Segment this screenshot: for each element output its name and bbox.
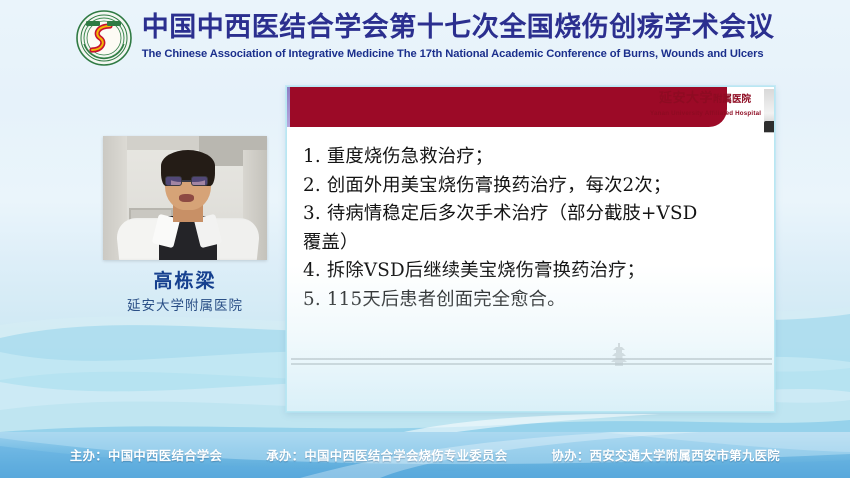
slide-corner-mark-dark-icon [764,121,775,132]
presentation-stage: 中国中西医结合学会第十七次全国烧伤创疡学术会议 The Chinese Asso… [0,0,850,478]
list-item: 4. 拆除VSD后继续美宝烧伤膏换药治疗； [303,257,762,286]
slide-footer-divider [287,358,775,365]
list-item: 2. 创面外用美宝烧伤膏换药治疗，每次2次； [303,172,762,201]
list-item: 5. 115天后患者创面完全愈合。 [303,286,762,315]
pagoda-icon [609,342,629,368]
presenter-affiliation: 延安大学附属医院 [103,297,267,315]
slide-viewport[interactable]: 延安大学附属医院 Yanan University Affiliated Hos… [286,86,775,412]
hospital-name-cn: 延安大学附属医院 [650,91,760,108]
presenter-panel: 高栋梁 延安大学附属医院 [103,136,267,315]
association-emblem-icon [76,10,132,66]
hospital-logo: 延安大学附属医院 Yanan University Affiliated Hos… [650,91,760,118]
hospital-name-sub: 附属医院 [713,94,751,105]
presenter-figure [103,136,267,260]
list-item: 3. 待病情稳定后多次手术治疗（部分截肢+VSD 覆盖） [303,200,762,257]
hospital-name-main: 延安大学 [659,91,713,106]
footer-coorganizer: 协办：西安交通大学附属西安市第九医院 [552,446,781,464]
treatment-step-list: 1. 重度烧伤急救治疗； 2. 创面外用美宝烧伤膏换药治疗，每次2次； 3. 待… [303,143,762,314]
slide-content: 1. 重度烧伤急救治疗； 2. 创面外用美宝烧伤膏换药治疗，每次2次； 3. 待… [287,137,775,314]
page-subtitle: The Chinese Association of Integrative M… [142,47,775,62]
conference-header: 中国中西医结合学会第十七次全国烧伤创疡学术会议 The Chinese Asso… [0,0,850,84]
footer-undertaker: 承办：中国中西医结合学会烧伤专业委员会 [266,446,507,464]
presenter-name: 高栋梁 [103,270,267,293]
hospital-name-en: Yanan University Affiliated Hospital [650,109,760,118]
page-title: 中国中西医结合学会第十七次全国烧伤创疡学术会议 [142,12,775,44]
presenter-webcam-feed[interactable] [103,136,267,260]
slide-banner-edge [287,87,290,127]
list-item: 1. 重度烧伤急救治疗； [303,143,762,172]
conference-footer: 主办：中国中西医结合学会 承办：中国中西医结合学会烧伤专业委员会 协办：西安交通… [0,432,850,478]
footer-organizer: 主办：中国中西医结合学会 [70,446,222,464]
